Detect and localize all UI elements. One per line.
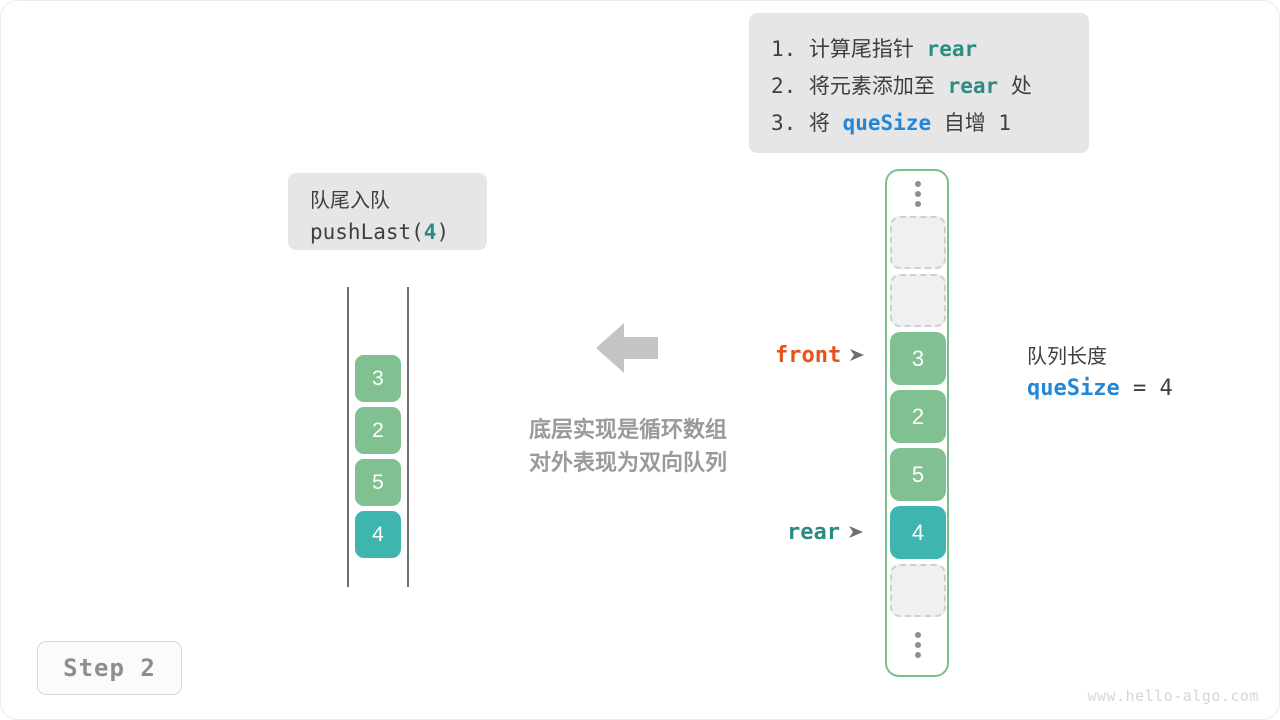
deque-cell: 5 (355, 459, 401, 506)
step-line-2-code: rear (948, 74, 999, 98)
array-ellipsis-top-icon (890, 171, 946, 216)
steps-panel: 1. 计算尾指针 rear 2. 将元素添加至 rear 处 3. 将 queS… (749, 13, 1089, 153)
array-slot-list: 3 2 5 4 (890, 171, 946, 667)
rear-pointer-arrow-icon (848, 520, 864, 545)
step-line-3-code: queSize (843, 111, 932, 135)
deque-rail-left (347, 287, 349, 587)
operation-panel: 队尾入队 pushLast(4) (288, 173, 487, 250)
array-ellipsis-bottom-icon (890, 622, 946, 667)
step-line-3: 3. 将 queSize 自增 1 (771, 105, 1067, 142)
caption-line-1: 底层实现是循环数组 (503, 413, 753, 446)
queue-size-value: 4 (1159, 376, 1172, 401)
deque-view: 3 2 5 4 (347, 287, 409, 587)
step-line-3-prefix: 3. 将 (771, 111, 830, 135)
array-slot (890, 216, 946, 269)
array-slot: 4 (890, 506, 946, 559)
step-line-2-prefix: 2. 将元素添加至 (771, 74, 935, 98)
front-pointer-label: front (775, 343, 865, 368)
rear-pointer-text: rear (787, 520, 840, 545)
queue-size-equals: = (1120, 376, 1160, 401)
deque-cell: 2 (355, 407, 401, 454)
rear-pointer-label: rear (787, 520, 864, 545)
array-slot: 5 (890, 448, 946, 501)
queue-size-title: 队列长度 (1027, 342, 1247, 372)
front-pointer-arrow-icon (849, 343, 865, 368)
step-line-1-prefix: 1. 计算尾指针 (771, 37, 914, 61)
step-line-2-suffix: 处 (1011, 74, 1032, 98)
circular-array-view: 3 2 5 4 (885, 169, 949, 677)
deque-cell: 4 (355, 511, 401, 558)
operation-code-prefix: pushLast( (310, 220, 424, 244)
diagram-canvas: 1. 计算尾指针 rear 2. 将元素添加至 rear 处 3. 将 queS… (0, 0, 1280, 720)
diagram-caption: 底层实现是循环数组 对外表现为双向队列 (503, 413, 753, 479)
deque-cell: 3 (355, 355, 401, 402)
operation-code: pushLast(4) (310, 216, 487, 248)
queue-size-var: queSize (1027, 376, 1120, 401)
step-line-1: 1. 计算尾指针 rear (771, 31, 1067, 68)
step-line-2: 2. 将元素添加至 rear 处 (771, 68, 1067, 105)
watermark: www.hello-algo.com (1087, 687, 1259, 705)
deque-rail-right (407, 287, 409, 587)
step-line-1-code: rear (927, 37, 978, 61)
operation-title: 队尾入队 (310, 186, 487, 216)
queue-size-info: 队列长度 queSize = 4 (1027, 342, 1247, 406)
array-slot: 2 (890, 390, 946, 443)
queue-size-expression: queSize = 4 (1027, 372, 1247, 406)
flow-arrow-icon (596, 321, 658, 375)
front-pointer-text: front (775, 343, 841, 368)
array-slot: 3 (890, 332, 946, 385)
operation-code-value: 4 (424, 220, 437, 244)
operation-code-suffix: ) (436, 220, 449, 244)
caption-line-2: 对外表现为双向队列 (503, 446, 753, 479)
array-slot (890, 564, 946, 617)
step-line-3-suffix: 自增 1 (944, 111, 1011, 135)
step-badge: Step 2 (37, 641, 182, 695)
array-slot (890, 274, 946, 327)
deque-cell-list: 3 2 5 4 (355, 355, 401, 563)
